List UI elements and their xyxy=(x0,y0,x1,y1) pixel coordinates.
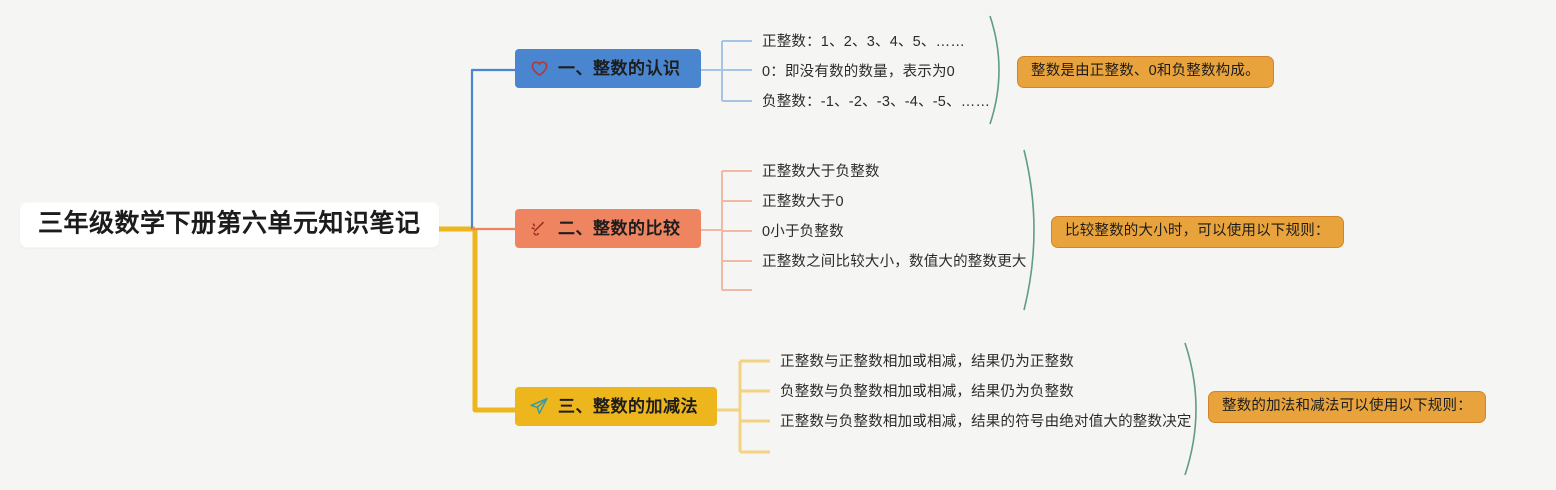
brace-arc-1 xyxy=(990,16,999,124)
paper-plane-icon xyxy=(529,396,549,416)
leaf-item: 正整数与正整数相加或相减，结果仍为正整数 xyxy=(780,355,1074,370)
leaf-item: 负整数与负整数相加或相减，结果仍为负整数 xyxy=(780,385,1074,400)
branch-node-3[interactable]: 三、整数的加减法 xyxy=(515,387,717,426)
leaf-item: 正整数之间比较大小，数值大的整数更大 xyxy=(762,255,1027,270)
branch-2-label: 二、整数的比较 xyxy=(558,220,681,237)
leaf-item: 0小于负整数 xyxy=(762,225,844,240)
branch-1-label: 一、整数的认识 xyxy=(558,60,681,77)
callout-branch-1[interactable]: 整数是由正整数、0和负整数构成。 xyxy=(1017,56,1274,88)
branch-3-label: 三、整数的加减法 xyxy=(558,398,698,415)
brace-arc-3 xyxy=(1185,343,1196,475)
leaf-item: 正整数与负整数相加或相减，结果的符号由绝对值大的整数决定 xyxy=(780,415,1192,430)
branch-node-1[interactable]: 一、整数的认识 xyxy=(515,49,701,88)
trunk-to-branch-3 xyxy=(475,229,515,410)
leaf-item: 正整数大于0 xyxy=(762,195,844,210)
leaf-item: 正整数：1、2、3、4、5、…… xyxy=(762,35,965,50)
leaf-item: 正整数大于负整数 xyxy=(762,165,880,180)
leaf-item: 0：即没有数的数量，表示为0 xyxy=(762,65,955,80)
heart-icon xyxy=(529,58,549,78)
leaf-item: 负整数：-1、-2、-3、-4、-5、…… xyxy=(762,95,990,110)
root-node[interactable]: 三年级数学下册第六单元知识笔记 xyxy=(20,203,439,248)
sparkle-wand-icon xyxy=(529,218,549,238)
callout-branch-2[interactable]: 比较整数的大小时，可以使用以下规则： xyxy=(1051,216,1344,248)
callout-branch-3[interactable]: 整数的加法和减法可以使用以下规则： xyxy=(1208,391,1486,423)
mindmap-canvas: 三年级数学下册第六单元知识笔记 一、整数的认识 二、整数的比较 xyxy=(0,0,1556,490)
branch-node-2[interactable]: 二、整数的比较 xyxy=(515,209,701,248)
trunk-to-branch-1 xyxy=(472,70,515,229)
root-title: 三年级数学下册第六单元知识笔记 xyxy=(38,212,421,237)
brace-arc-2 xyxy=(1024,150,1034,310)
